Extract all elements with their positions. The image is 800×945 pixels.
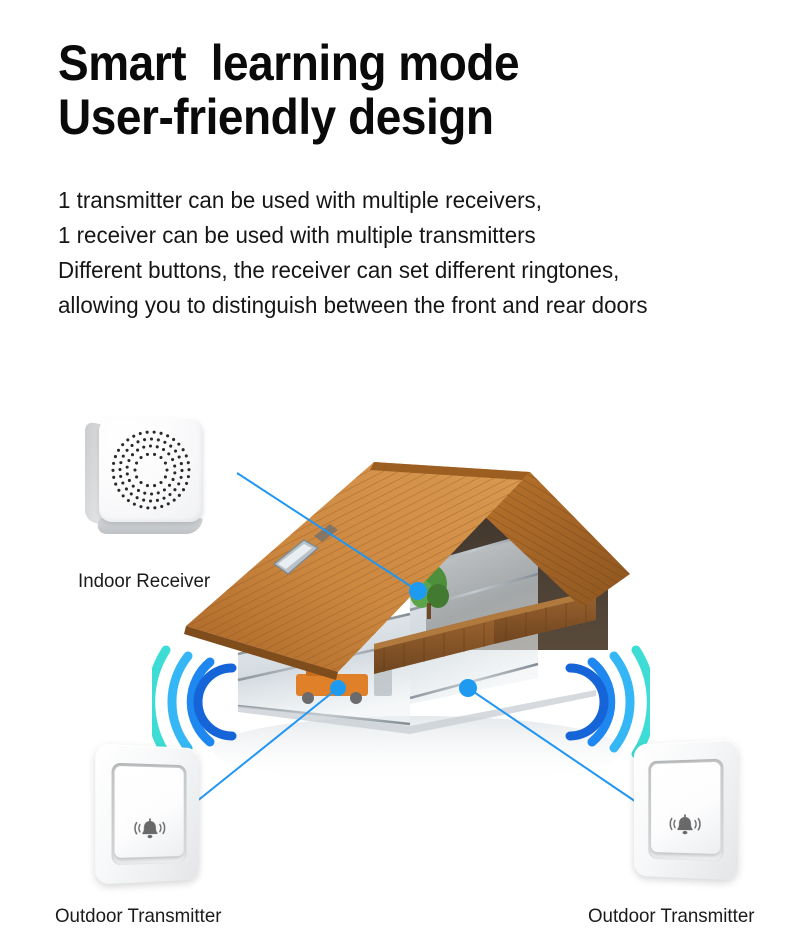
wifi-arcs-icon <box>152 642 262 762</box>
description-line-2: 1 receiver can be used with multiple tra… <box>58 218 752 253</box>
transmitter-wall-plate <box>95 744 199 885</box>
description-line-1: 1 transmitter can be used with multiple … <box>58 183 752 218</box>
bell-icon <box>133 817 166 843</box>
page-title: Smart learning mode User-friendly design <box>58 36 702 144</box>
wireless-signal-left <box>152 642 262 762</box>
indoor-receiver-device <box>85 418 210 536</box>
speaker-grille-icon <box>99 418 203 522</box>
page-title-line-2: User-friendly design <box>58 90 702 144</box>
description-line-4: allowing you to distinguish between the … <box>58 288 752 323</box>
page-title-line-1: Smart learning mode <box>58 36 702 90</box>
doorbell-push-button[interactable] <box>651 762 720 854</box>
description-line-3: Different buttons, the receiver can set … <box>58 253 752 288</box>
product-diagram-scene: Indoor Receiver Outdoor Transmitter Outd… <box>0 380 800 945</box>
outdoor-transmitter-left-label: Outdoor Transmitter <box>55 905 221 928</box>
transmitter-recess <box>648 759 723 862</box>
outdoor-transmitter-left-device <box>95 746 203 882</box>
outdoor-transmitter-right-label: Outdoor Transmitter <box>588 905 754 928</box>
receiver-front-face <box>99 418 203 522</box>
description-paragraph: 1 transmitter can be used with multiple … <box>58 183 752 323</box>
outdoor-transmitter-right-device <box>630 742 738 878</box>
bell-icon <box>669 813 702 839</box>
transmitter-wall-plate <box>634 740 738 881</box>
indoor-receiver-label: Indoor Receiver <box>78 570 210 593</box>
doorbell-push-button[interactable] <box>115 766 184 858</box>
transmitter-recess <box>112 763 187 866</box>
